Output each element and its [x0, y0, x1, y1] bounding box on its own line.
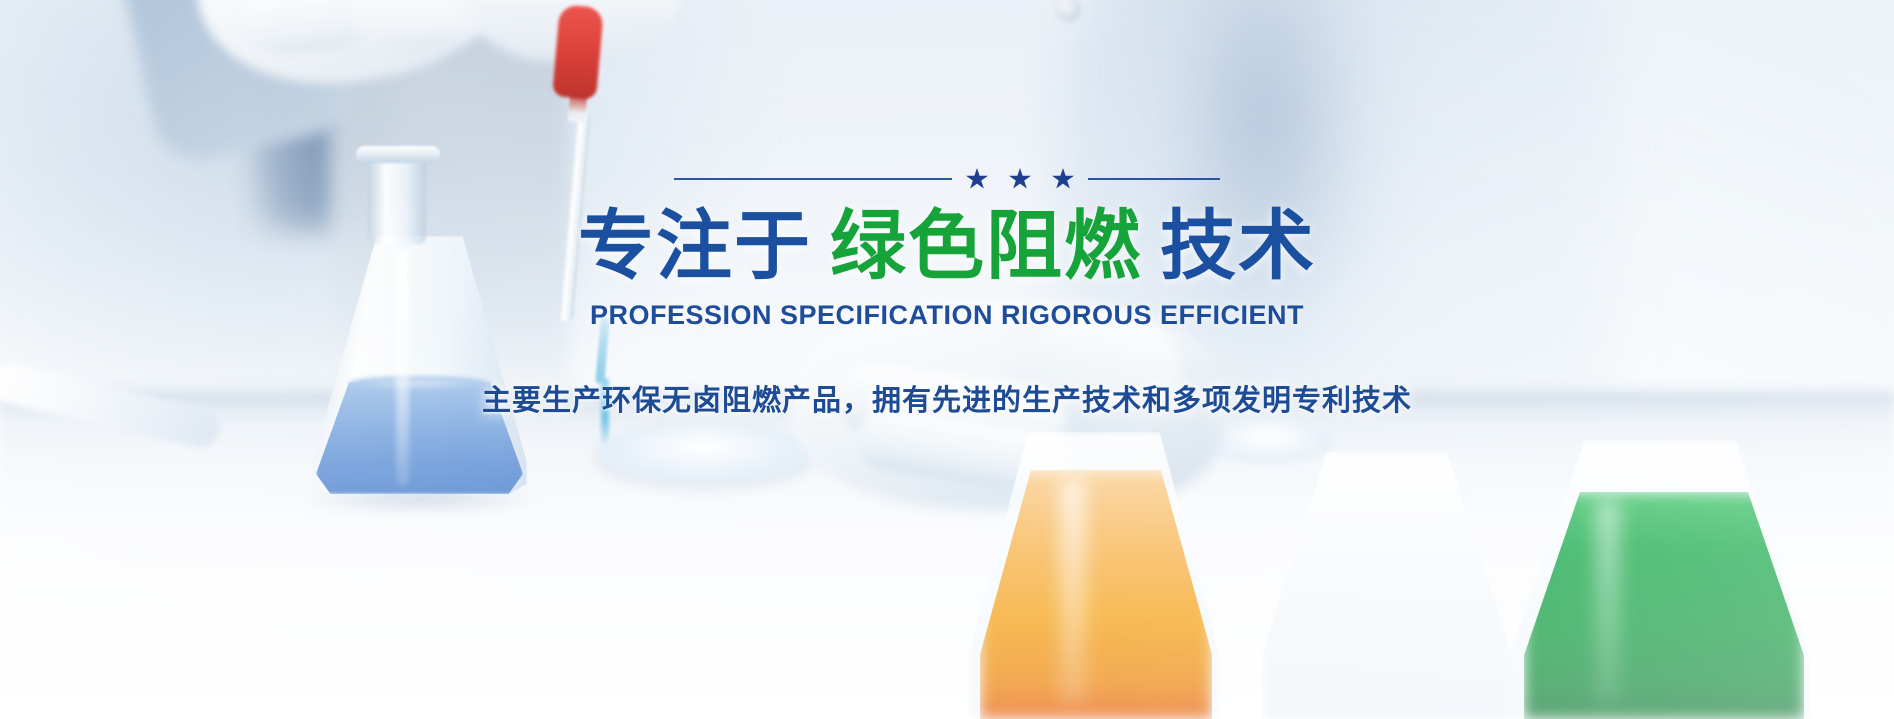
petri-dish-right — [1202, 418, 1334, 464]
headline-part-1: 专注于 — [578, 206, 812, 286]
headline-part-3: 技术 — [1160, 206, 1316, 286]
divider-rule-right — [1088, 178, 1220, 180]
chinese-tagline: 主要生产环保无卤阻燃产品，拥有先进的生产技术和多项发明专利技术 — [482, 377, 1412, 419]
decorative-divider — [674, 168, 1220, 190]
star-icon — [1009, 168, 1031, 190]
banner-content: 专注于 绿色阻燃 技术 PROFESSION SPECIFICATION RIG… — [0, 168, 1894, 419]
flask-orange-highlight — [1060, 478, 1086, 703]
star-icon — [1052, 168, 1074, 190]
english-subtitle: PROFESSION SPECIFICATION RIGOROUS EFFICI… — [590, 300, 1304, 331]
divider-rule-left — [674, 178, 952, 180]
star-icon — [966, 168, 988, 190]
headline: 专注于 绿色阻燃 技术 — [578, 206, 1316, 286]
pipette-bulb-icon — [552, 4, 604, 99]
star-group — [966, 168, 1074, 190]
hero-banner: 专注于 绿色阻燃 技术 PROFESSION SPECIFICATION RIG… — [0, 0, 1894, 719]
petri-dish-center — [596, 424, 812, 482]
headline-part-2: 绿色阻燃 — [830, 206, 1142, 286]
flask-green-highlight — [1596, 500, 1620, 705]
erlenmeyer-flask-lip — [356, 146, 440, 163]
